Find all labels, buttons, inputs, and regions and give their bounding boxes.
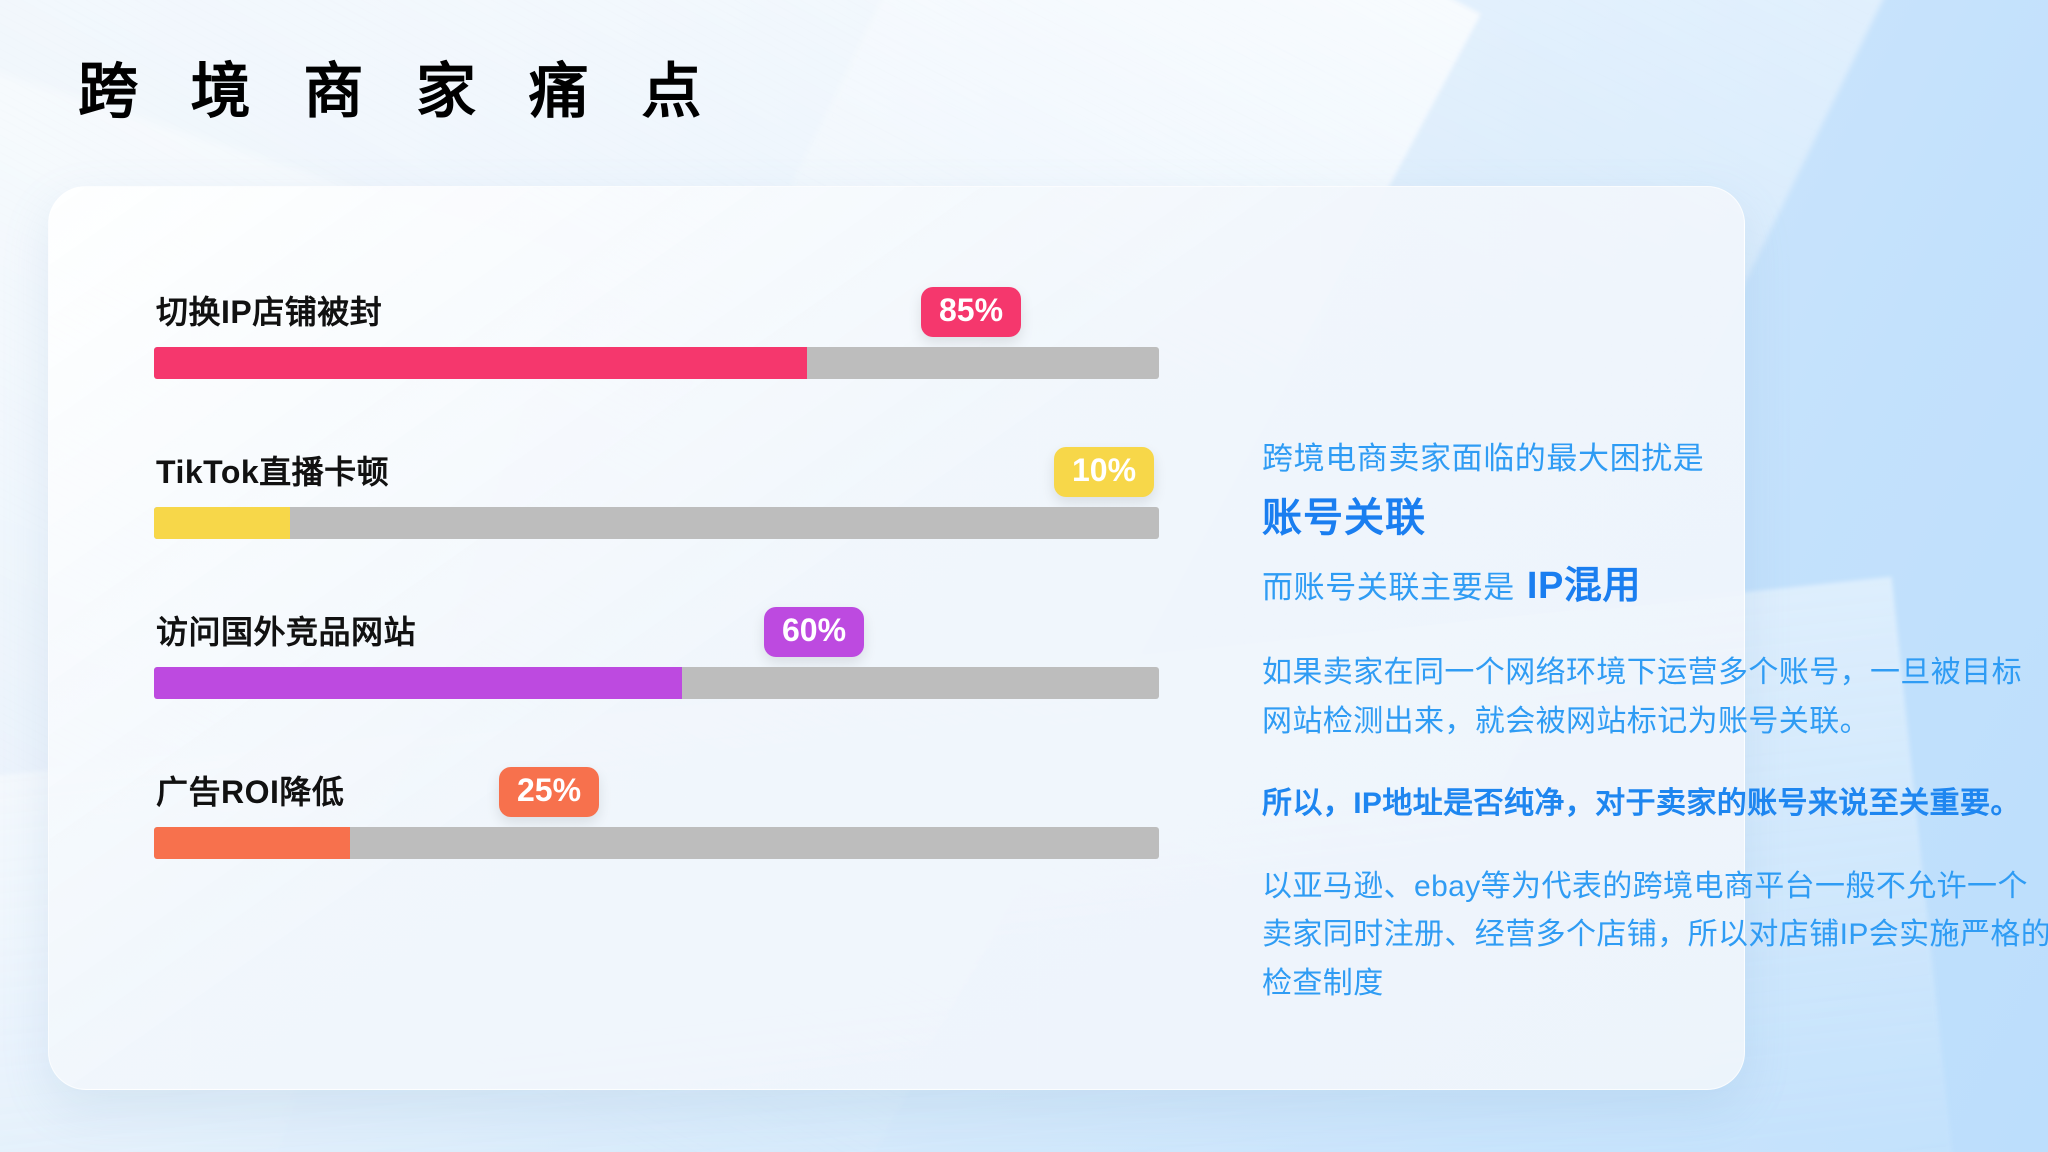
bar-label: 广告ROI降低 [156,767,344,813]
info-subline: 而账号关联主要是IP混用 [1262,558,2048,615]
bar-value-badge: 25% [499,767,599,817]
bar-value-badge: 10% [1054,447,1154,497]
bar-value-badge: 60% [764,607,864,657]
bar-header: 切换IP店铺被封85% [109,265,1139,339]
bar-track [154,667,1159,699]
bar-fill [154,347,807,379]
bar-row: TikTok直播卡顿10% [109,425,1139,545]
bar-fill [154,827,350,859]
info-paragraph-3: 以亚马逊、ebay等为代表的跨境电商平台一般不允许一个卖家同时注册、经营多个店铺… [1262,863,2048,1009]
info-intro-line: 跨境电商卖家面临的最大困扰是 [1262,435,2048,482]
bar-value-badge: 85% [921,287,1021,337]
content-card: 切换IP店铺被封85%TikTok直播卡顿10%访问国外竞品网站60%广告ROI… [48,186,1745,1090]
bar-label: TikTok直播卡顿 [156,447,389,493]
info-paragraph-2: 所以，IP地址是否纯净，对于卖家的账号来说至关重要。 [1262,780,2048,829]
bar-row: 广告ROI降低25% [109,745,1139,865]
bar-header: TikTok直播卡顿10% [109,425,1139,499]
bar-track [154,507,1159,539]
info-text-panel: 跨境电商卖家面临的最大困扰是 账号关联 而账号关联主要是IP混用 如果卖家在同一… [1262,435,2048,1009]
bar-track [154,347,1159,379]
bar-header: 广告ROI降低25% [109,745,1139,819]
info-subline-prefix: 而账号关联主要是 [1262,570,1515,605]
bar-label: 访问国外竞品网站 [156,607,416,653]
info-paragraph-1: 如果卖家在同一个网络环境下运营多个账号，一旦被目标网站检测出来，就会被网站标记为… [1262,649,2048,746]
bar-header: 访问国外竞品网站60% [109,585,1139,659]
bar-label: 切换IP店铺被封 [156,287,382,333]
page-title: 跨 境 商 家 痛 点 [78,62,719,122]
bar-row: 切换IP店铺被封85% [109,265,1139,385]
bar-row: 访问国外竞品网站60% [109,585,1139,705]
pain-point-bar-chart: 切换IP店铺被封85%TikTok直播卡顿10%访问国外竞品网站60%广告ROI… [109,265,1169,1025]
bar-track [154,827,1159,859]
slide-canvas: 跨 境 商 家 痛 点 切换IP店铺被封85%TikTok直播卡顿10%访问国外… [0,0,2048,1152]
bar-fill [154,507,290,539]
info-headline: 账号关联 [1262,488,2048,548]
bar-fill [154,667,682,699]
info-subline-emphasis: IP混用 [1527,565,1641,607]
